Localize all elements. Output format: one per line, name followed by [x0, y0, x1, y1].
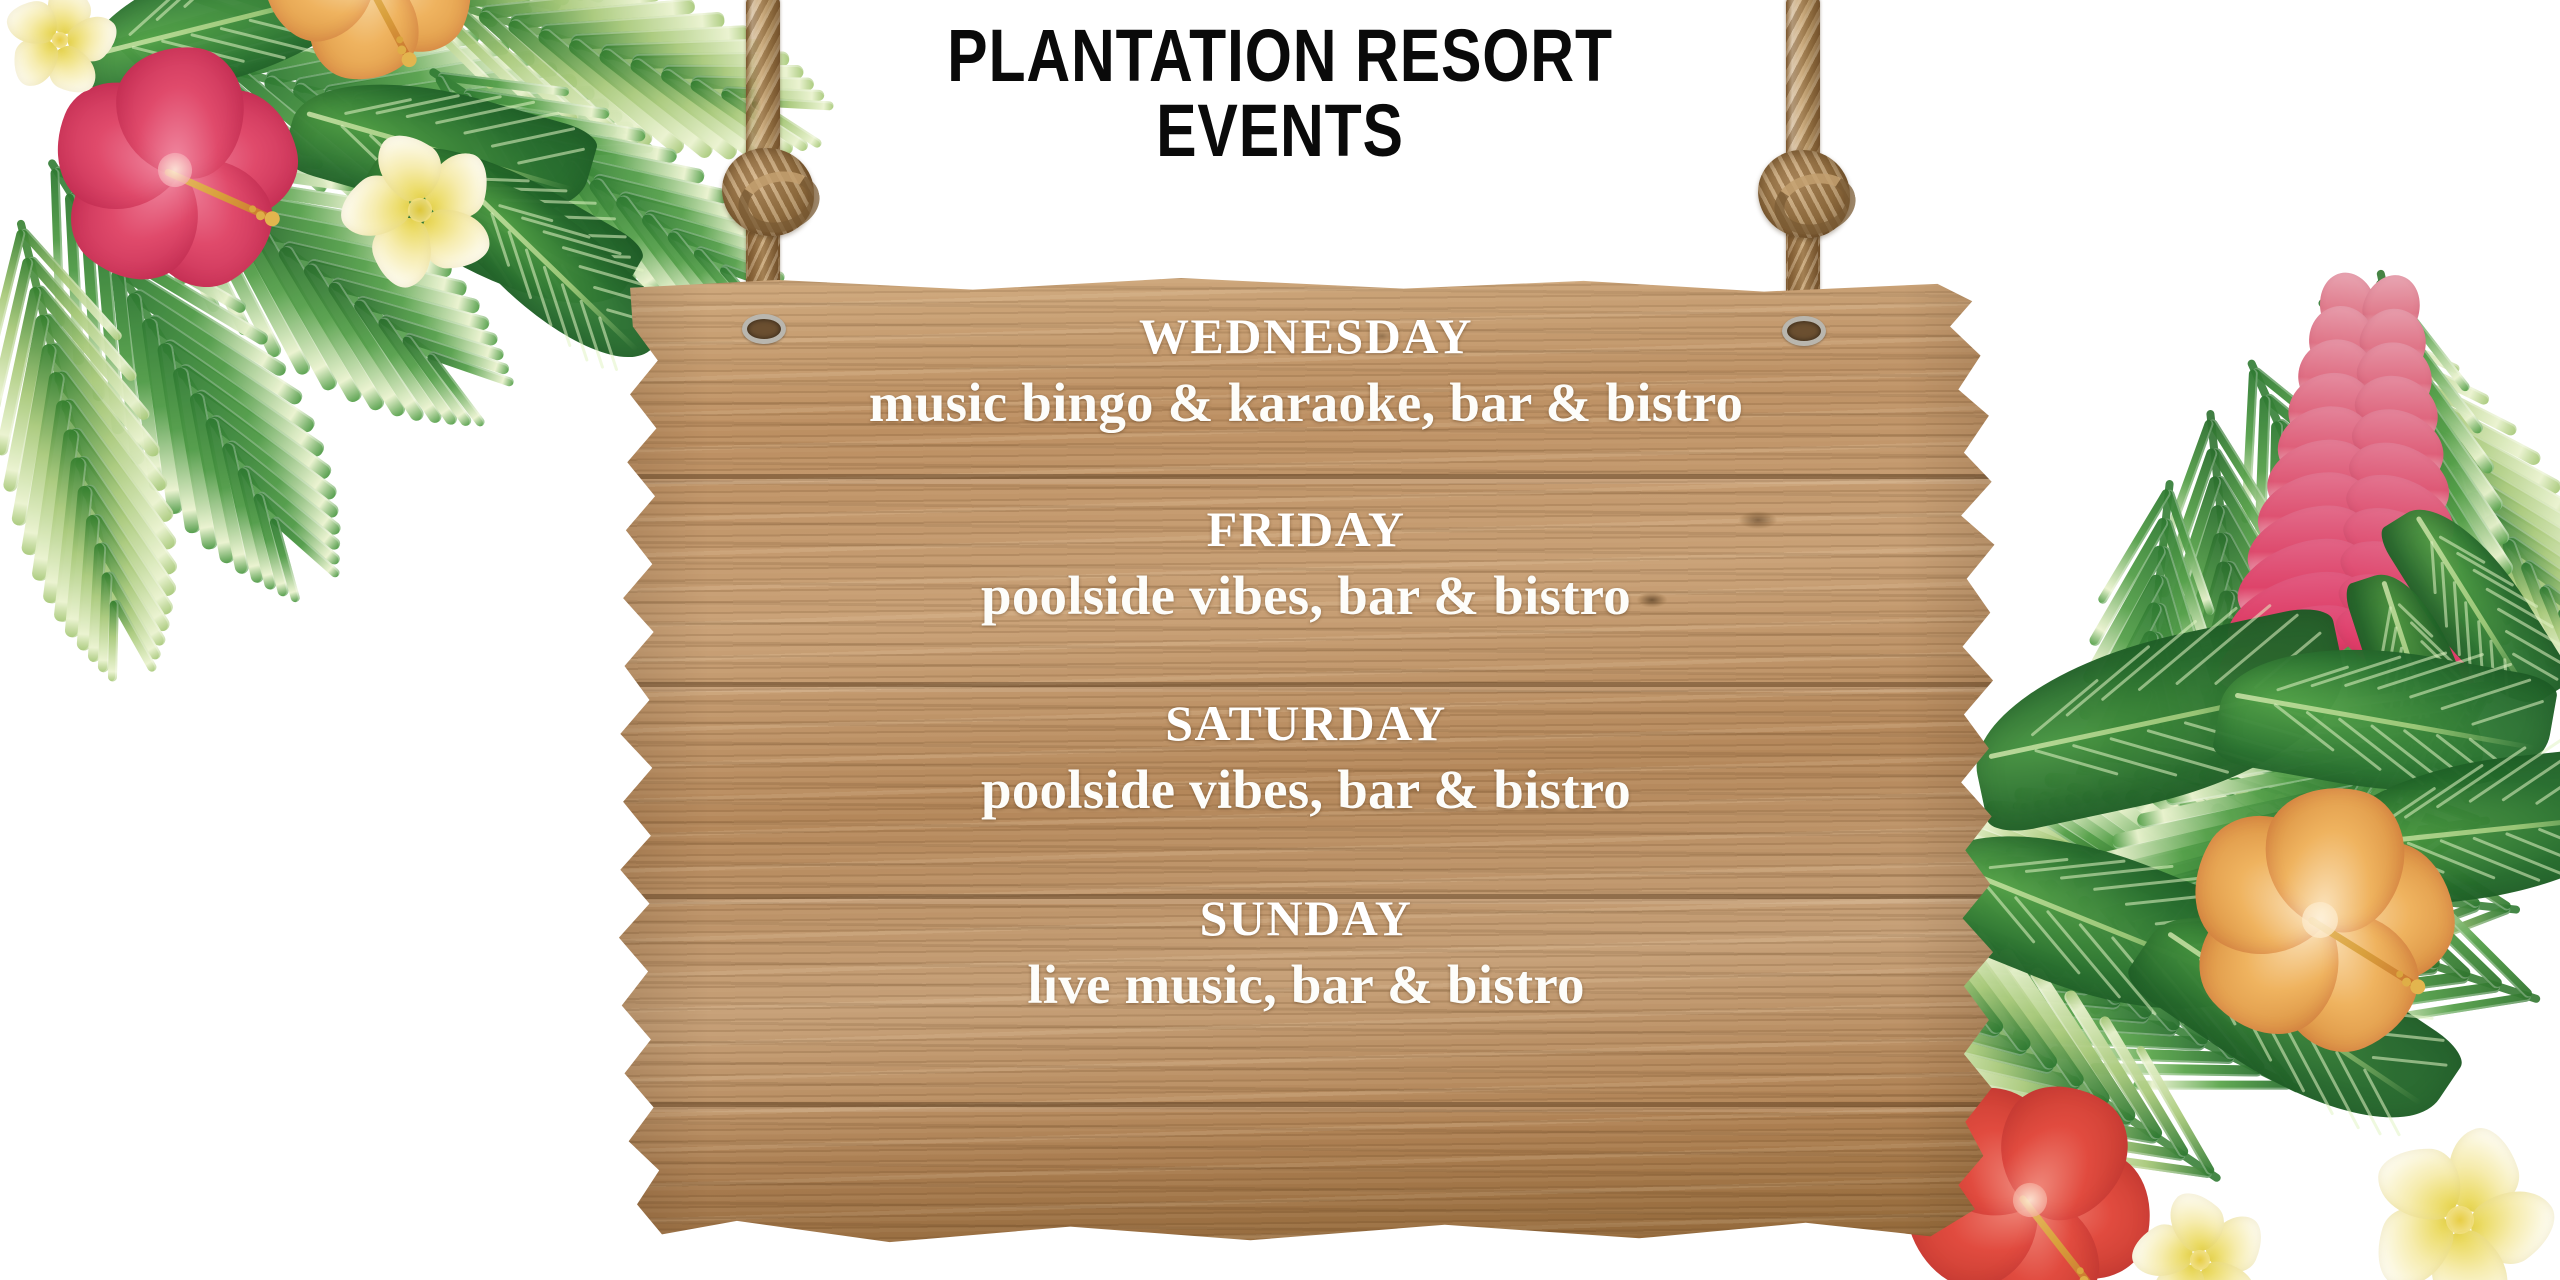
- eyelet-right-icon: [1782, 316, 1826, 346]
- hanging-sign: [0, 0, 2560, 1280]
- rope-knot-left: [722, 148, 814, 236]
- eyelet-left-icon: [742, 314, 786, 344]
- rope-knot-right: [1758, 150, 1850, 238]
- wooden-sign-board: [612, 278, 2000, 1248]
